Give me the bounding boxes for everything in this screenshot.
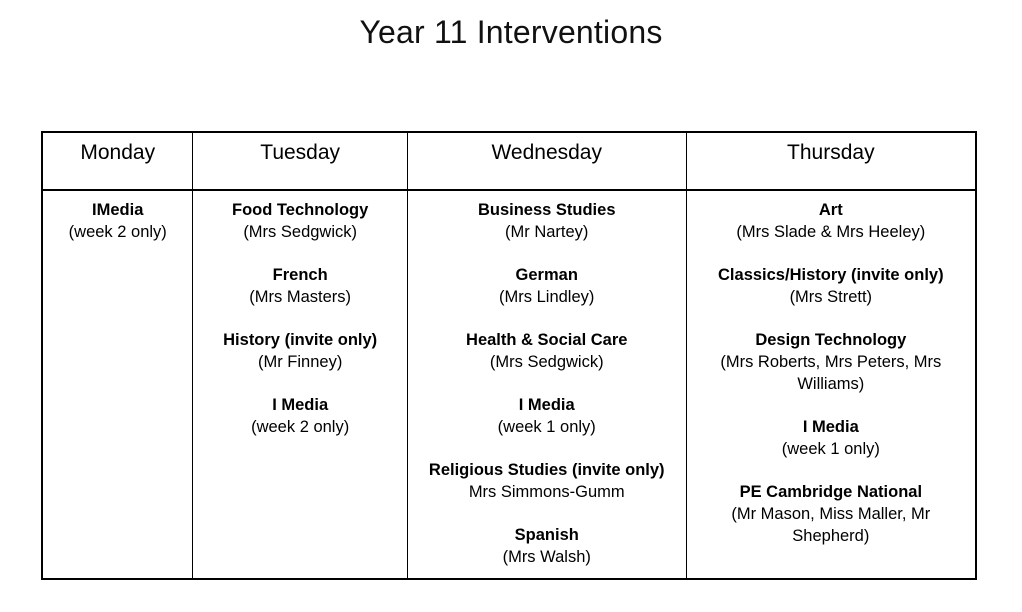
intervention-entry: French(Mrs Masters)	[197, 264, 402, 308]
intervention-entry: IMedia(week 2 only)	[47, 199, 188, 243]
intervention-subject: German	[412, 264, 682, 286]
intervention-detail: (week 1 only)	[412, 416, 682, 438]
intervention-detail: (Mrs Strett)	[691, 286, 971, 308]
intervention-entry: History (invite only)(Mr Finney)	[197, 329, 402, 373]
intervention-detail: (Mrs Sedgwick)	[412, 351, 682, 373]
intervention-entry: Health & Social Care(Mrs Sedgwick)	[412, 329, 682, 373]
column-header-thursday: Thursday	[686, 132, 976, 190]
column-header-tuesday: Tuesday	[193, 132, 407, 190]
intervention-detail: (Mr Mason, Miss Maller, Mr Shepherd)	[691, 503, 971, 547]
intervention-subject: Art	[691, 199, 971, 221]
table-row: IMedia(week 2 only) Food Technology(Mrs …	[42, 190, 976, 579]
column-header-wednesday: Wednesday	[407, 132, 686, 190]
intervention-entry: I Media(week 1 only)	[691, 416, 971, 460]
intervention-detail: (Mr Nartey)	[412, 221, 682, 243]
intervention-detail: (Mrs Slade & Mrs Heeley)	[691, 221, 971, 243]
intervention-subject: Classics/History (invite only)	[691, 264, 971, 286]
interventions-timetable: Monday Tuesday Wednesday Thursday IMedia…	[41, 131, 977, 580]
intervention-detail: (week 1 only)	[691, 438, 971, 460]
intervention-detail: Mrs Simmons-Gumm	[412, 481, 682, 503]
intervention-detail: (Mrs Roberts, Mrs Peters, Mrs Williams)	[691, 351, 971, 395]
intervention-entry: Design Technology(Mrs Roberts, Mrs Peter…	[691, 329, 971, 395]
intervention-subject: Spanish	[412, 524, 682, 546]
intervention-entry: Food Technology(Mrs Sedgwick)	[197, 199, 402, 243]
intervention-detail: (week 2 only)	[197, 416, 402, 438]
intervention-subject: French	[197, 264, 402, 286]
intervention-detail: (Mrs Masters)	[197, 286, 402, 308]
column-header-monday: Monday	[42, 132, 193, 190]
day-cell-thursday: Art(Mrs Slade & Mrs Heeley)Classics/Hist…	[686, 190, 976, 579]
intervention-entry: Art(Mrs Slade & Mrs Heeley)	[691, 199, 971, 243]
intervention-detail: (Mrs Sedgwick)	[197, 221, 402, 243]
intervention-detail: (Mrs Walsh)	[412, 546, 682, 568]
table-header-row: Monday Tuesday Wednesday Thursday	[42, 132, 976, 190]
day-cell-wednesday: Business Studies(Mr Nartey)German(Mrs Li…	[407, 190, 686, 579]
intervention-subject: Health & Social Care	[412, 329, 682, 351]
intervention-subject: Food Technology	[197, 199, 402, 221]
intervention-entry: German(Mrs Lindley)	[412, 264, 682, 308]
intervention-entry: I Media(week 1 only)	[412, 394, 682, 438]
intervention-detail: (Mrs Lindley)	[412, 286, 682, 308]
intervention-subject: PE Cambridge National	[691, 481, 971, 503]
intervention-entry: PE Cambridge National(Mr Mason, Miss Mal…	[691, 481, 971, 547]
intervention-subject: History (invite only)	[197, 329, 402, 351]
intervention-subject: IMedia	[47, 199, 188, 221]
intervention-subject: Business Studies	[412, 199, 682, 221]
intervention-subject: I Media	[691, 416, 971, 438]
intervention-detail: (Mr Finney)	[197, 351, 402, 373]
day-cell-tuesday: Food Technology(Mrs Sedgwick)French(Mrs …	[193, 190, 407, 579]
intervention-subject: Religious Studies (invite only)	[412, 459, 682, 481]
intervention-subject: I Media	[197, 394, 402, 416]
day-cell-monday: IMedia(week 2 only)	[42, 190, 193, 579]
intervention-entry: Spanish(Mrs Walsh)	[412, 524, 682, 568]
intervention-subject: Design Technology	[691, 329, 971, 351]
page-title: Year 11 Interventions	[0, 14, 1022, 51]
intervention-entry: I Media(week 2 only)	[197, 394, 402, 438]
intervention-entry: Religious Studies (invite only)Mrs Simmo…	[412, 459, 682, 503]
intervention-entry: Classics/History (invite only)(Mrs Stret…	[691, 264, 971, 308]
intervention-subject: I Media	[412, 394, 682, 416]
intervention-entry: Business Studies(Mr Nartey)	[412, 199, 682, 243]
intervention-detail: (week 2 only)	[47, 221, 188, 243]
